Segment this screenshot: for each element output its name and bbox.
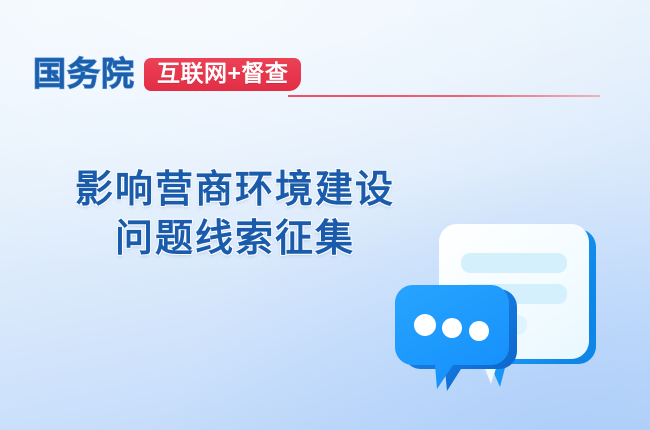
- program-badge: 互联网+督查: [144, 58, 301, 91]
- banner-header: 国务院 互联网+督查: [33, 52, 301, 96]
- header-divider-rule: [288, 95, 600, 97]
- typing-dot-2: [442, 318, 462, 338]
- typing-dot-1: [414, 314, 436, 336]
- chat-bubbles-illustration: [395, 205, 635, 400]
- promo-banner: 国务院 互联网+督查 影响营商环境建设 问题线索征集: [0, 0, 650, 430]
- program-badge-label: 互联网+督查: [157, 62, 288, 85]
- organization-title: 国务院: [33, 54, 135, 94]
- typing-dot-3: [469, 321, 489, 341]
- large-bubble-line-1: [461, 253, 567, 273]
